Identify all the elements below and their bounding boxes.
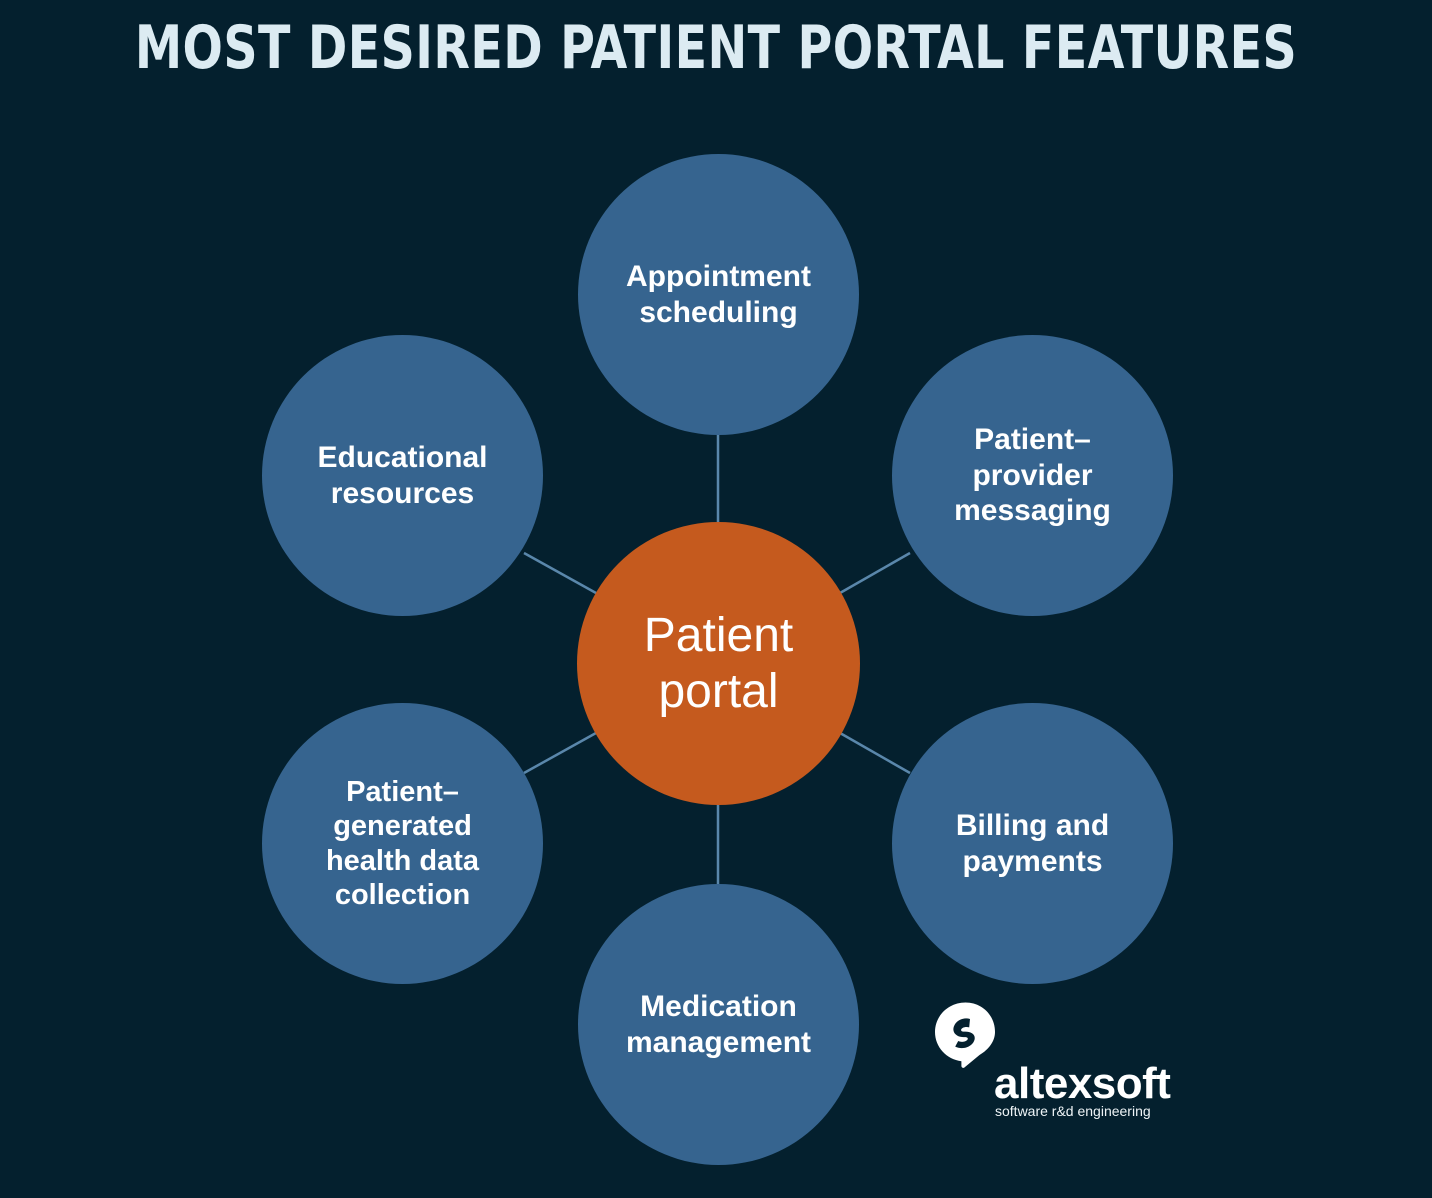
- connector-hub-to-patient-generated-health-data: [524, 733, 596, 773]
- altexsoft-wordmark: altexsoft: [994, 1062, 1180, 1106]
- node-label-patient-portal: Patient portal: [644, 608, 793, 719]
- node-medication-management[interactable]: Medication management: [578, 884, 859, 1165]
- node-appointment-scheduling[interactable]: Appointment scheduling: [578, 154, 859, 435]
- connector-hub-to-educational-resources: [524, 553, 596, 593]
- altexsoft-tagline: software r&d engineering: [995, 1104, 1185, 1118]
- connector-hub-to-patient-provider-messaging: [840, 553, 910, 593]
- node-label-educational-resources: Educational resources: [303, 440, 501, 511]
- hub-and-spoke-diagram: Appointment scheduling Patient– provider…: [0, 0, 1432, 1198]
- infographic-canvas: MOST DESIRED PATIENT PORTAL FEATURES App…: [0, 0, 1432, 1198]
- altexsoft-speech-bubble-icon: [932, 1000, 1002, 1070]
- node-label-billing-and-payments: Billing and payments: [942, 808, 1123, 879]
- connector-hub-to-billing-and-payments: [840, 733, 910, 773]
- node-label-medication-management: Medication management: [612, 989, 825, 1060]
- node-educational-resources[interactable]: Educational resources: [262, 335, 543, 616]
- node-label-patient-generated-health-data-collection: Patient– generated health data collectio…: [312, 775, 493, 912]
- node-patient-generated-health-data-collection[interactable]: Patient– generated health data collectio…: [262, 703, 543, 984]
- node-patient-provider-messaging[interactable]: Patient– provider messaging: [892, 335, 1173, 616]
- node-billing-and-payments[interactable]: Billing and payments: [892, 703, 1173, 984]
- node-label-appointment-scheduling: Appointment scheduling: [612, 259, 825, 330]
- node-patient-portal-hub[interactable]: Patient portal: [577, 522, 860, 805]
- node-label-patient-provider-messaging: Patient– provider messaging: [940, 422, 1125, 528]
- altexsoft-logo[interactable]: altexsoft software r&d engineering: [932, 1000, 1180, 1122]
